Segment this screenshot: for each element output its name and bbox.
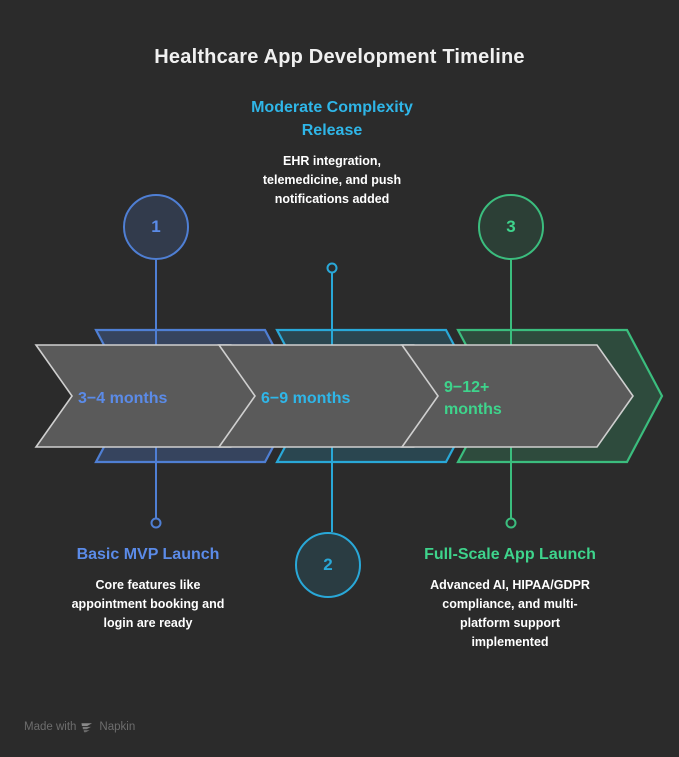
stage-number-1[interactable]: 1: [123, 194, 189, 260]
watermark-brand: Napkin: [99, 721, 135, 733]
stage-text-block-1: Basic MVP Launch Core features like appo…: [62, 543, 234, 633]
stage-description-2: EHR integration, telemedicine, and push …: [246, 152, 418, 209]
stage-text-block-2: Moderate Complexity Release EHR integrat…: [246, 96, 418, 209]
stage-duration-2: 6−9 months: [261, 388, 350, 410]
stage-number-3[interactable]: 3: [478, 194, 544, 260]
watermark: Made with Napkin: [24, 721, 135, 733]
napkin-logo-icon: [81, 722, 94, 733]
stage-heading-2: Moderate Complexity Release: [246, 96, 418, 142]
stage-text-block-3: Full-Scale App Launch Advanced AI, HIPAA…: [424, 543, 596, 652]
stage-duration-1: 3−4 months: [78, 388, 167, 410]
infographic-canvas: Healthcare App Development Timeline 1: [0, 0, 679, 757]
watermark-prefix: Made with: [24, 721, 76, 733]
stage-description-1: Core features like appointment booking a…: [62, 576, 234, 633]
stage-number-2[interactable]: 2: [295, 532, 361, 598]
stage-heading-1: Basic MVP Launch: [62, 543, 234, 566]
stage-heading-3: Full-Scale App Launch: [424, 543, 596, 566]
stage-description-3: Advanced AI, HIPAA/GDPR compliance, and …: [424, 576, 596, 652]
stage-duration-3: 9−12+ months: [444, 377, 536, 420]
